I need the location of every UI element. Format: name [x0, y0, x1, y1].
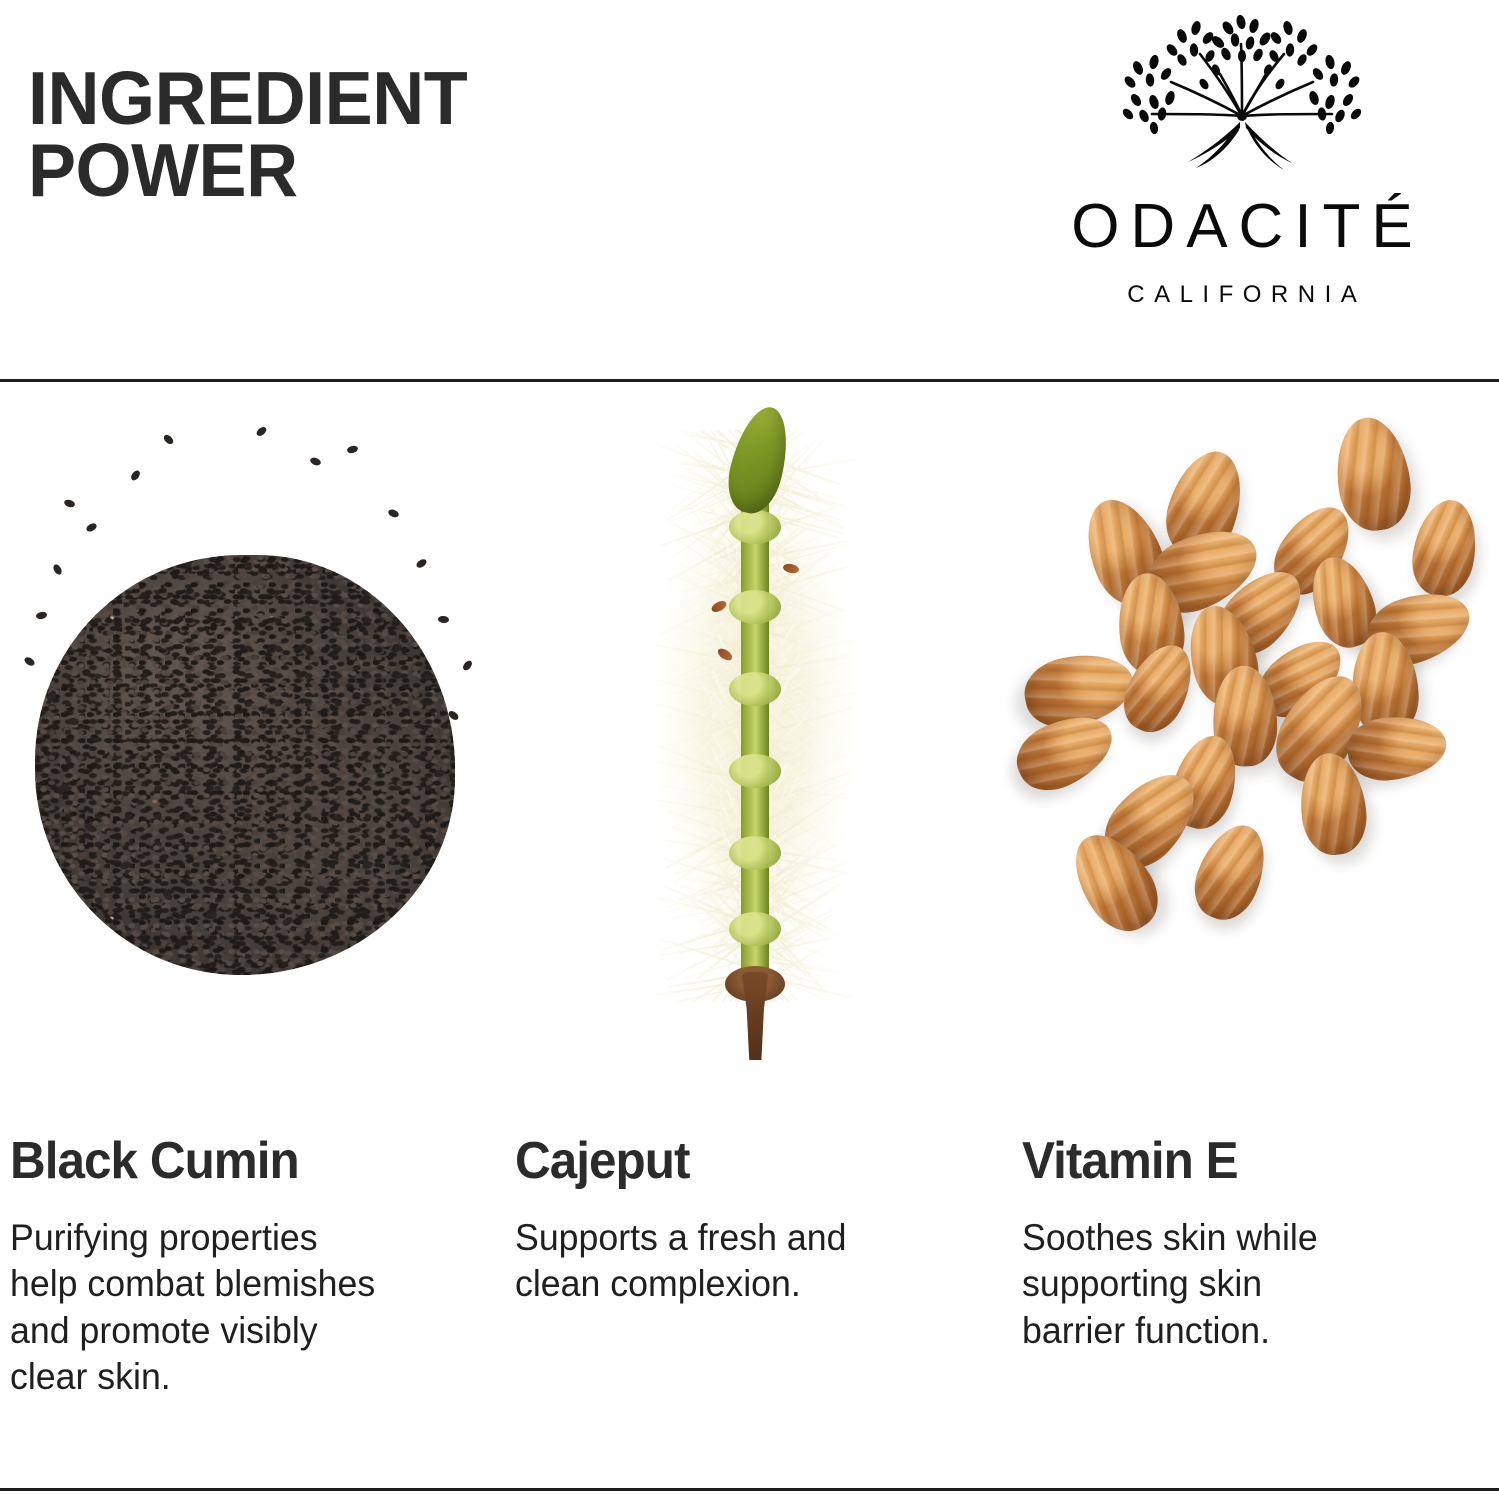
ingredient-card-cajeput: Cajeput Supports a fresh and clean compl…: [515, 400, 995, 1480]
stray-seed: [85, 522, 98, 533]
brand-tagline: CALIFORNIA: [1007, 283, 1477, 307]
stray-seed: [35, 611, 47, 620]
flower-node: [729, 836, 781, 870]
stray-seed: [461, 659, 473, 672]
brand-wordmark: ODACITÉ: [1007, 196, 1477, 258]
ingredient-description: Supports a fresh and clean complexion.: [515, 1215, 969, 1308]
stray-seed: [52, 563, 63, 576]
header: INGREDIENT POWER: [0, 0, 1499, 380]
almond: [1345, 712, 1450, 785]
stray-seed: [387, 508, 400, 519]
flower-node: [729, 590, 781, 624]
umbel-flower-icon: [1108, 10, 1376, 186]
stray-seed: [415, 558, 428, 570]
ingredient-description: Purifying properties help combat blemish…: [10, 1215, 464, 1400]
flower-node: [729, 510, 781, 544]
flower-node: [729, 912, 781, 946]
ingredient-heading: Cajeput: [515, 1135, 690, 1187]
flower-woody-stem: [739, 972, 771, 1060]
stray-seed: [63, 498, 76, 508]
bottlebrush-flower-graphic: [515, 400, 995, 1130]
black-cumin-seeds-image: [10, 400, 490, 1130]
brand-logo: ODACITÉ CALIFORNIA: [1007, 8, 1477, 318]
almond: [1184, 815, 1278, 929]
stray-seed: [255, 425, 268, 437]
divider-bottom: [0, 1488, 1499, 1491]
almonds-image: [1022, 400, 1499, 1130]
almond-scatter-graphic: [1022, 400, 1499, 1130]
almond: [1406, 495, 1483, 601]
flower-node: [729, 754, 781, 788]
stray-seed: [23, 656, 36, 668]
ingredient-card-vitamin-e: Vitamin E Soothes skin while supporting …: [1022, 400, 1499, 1480]
seed-pile-graphic: [10, 400, 490, 1130]
cajeput-flower-image: [515, 400, 995, 1130]
stray-seed: [438, 615, 450, 623]
stray-seed: [162, 433, 175, 446]
ingredient-description: Soothes skin while supporting skin barri…: [1022, 1215, 1476, 1354]
stray-seed: [309, 456, 322, 467]
divider-top: [0, 379, 1499, 382]
ingredient-heading: Vitamin E: [1022, 1135, 1238, 1187]
ingredient-heading: Black Cumin: [10, 1135, 299, 1187]
stray-seed: [346, 445, 358, 454]
ingredient-card-grid: Black Cumin Purifying properties help co…: [0, 400, 1499, 1480]
stray-seed: [129, 469, 141, 482]
flower-node: [729, 672, 781, 706]
page-title: INGREDIENT POWER: [28, 62, 467, 206]
ingredient-card-black-cumin: Black Cumin Purifying properties help co…: [10, 400, 490, 1480]
seed-grain-texture: [35, 555, 455, 975]
